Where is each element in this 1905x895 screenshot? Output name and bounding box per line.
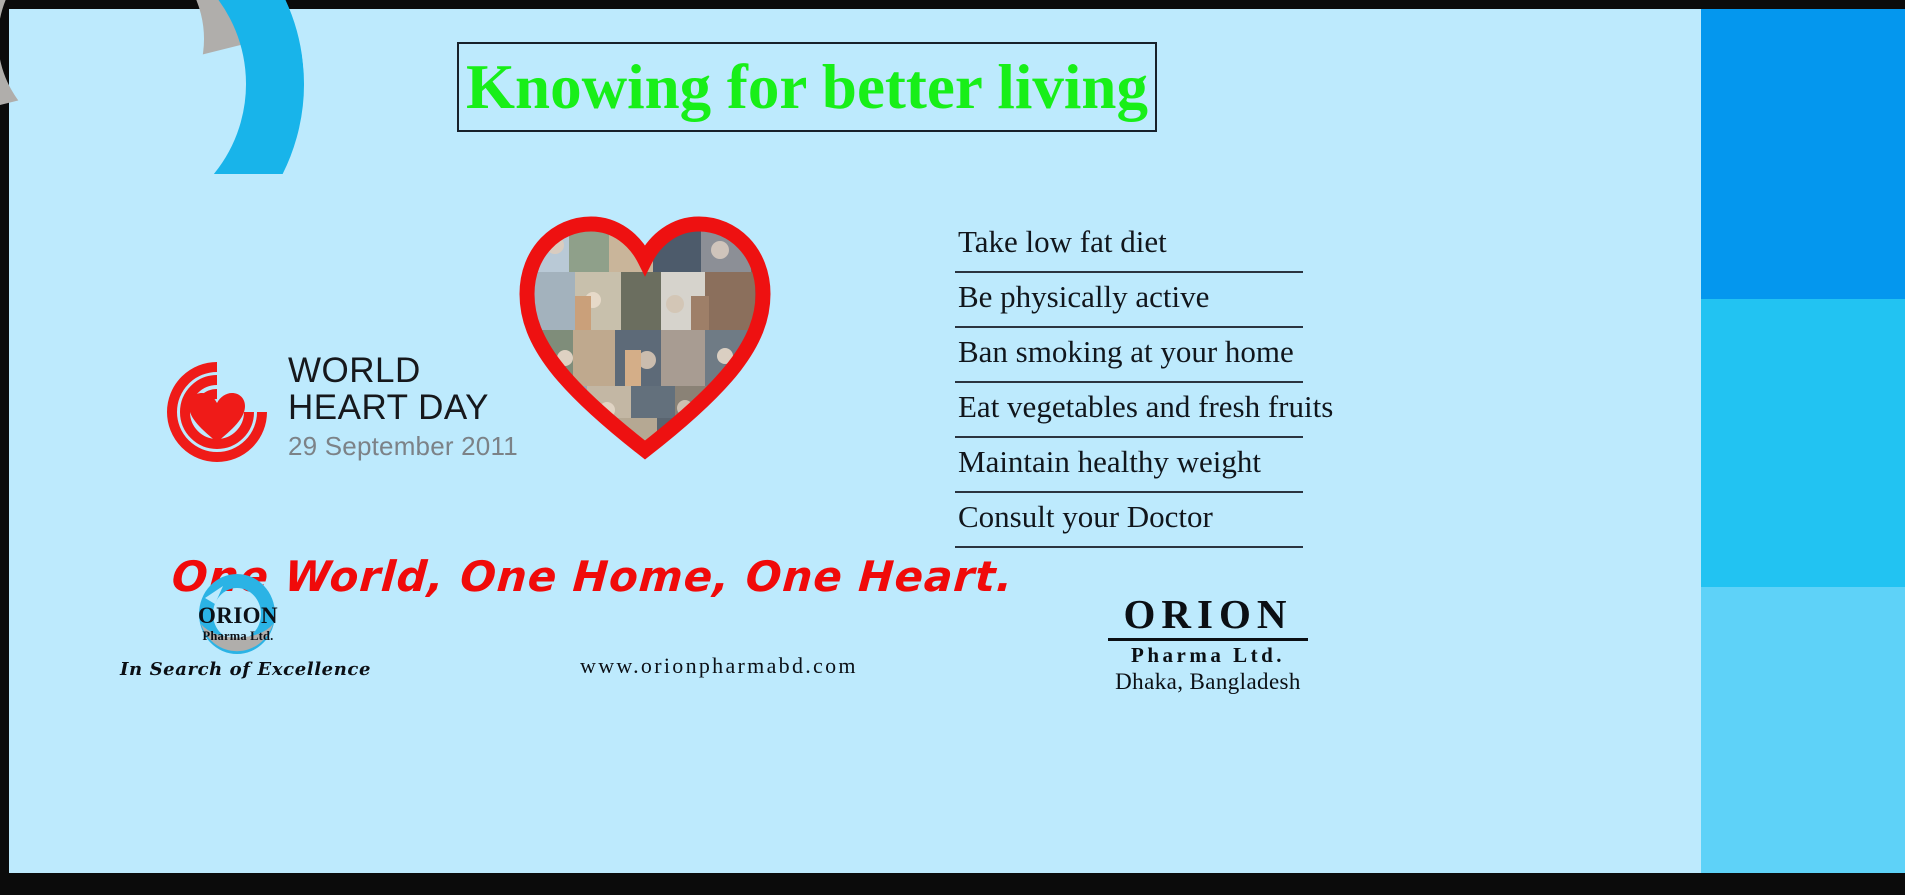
headline-box: Knowing for better living <box>457 42 1157 132</box>
right-rail-bar-2 <box>1701 299 1905 587</box>
list-item: Eat vegetables and fresh fruits <box>955 383 1303 438</box>
swoosh-blue-crescent-icon <box>0 0 324 174</box>
orion-pharma-wordmark: ORION Pharma Ltd. Dhaka, Bangladesh <box>1108 593 1308 696</box>
tip-label: Ban smoking at your home <box>958 330 1303 374</box>
excellence-tagline: In Search of Excellence <box>120 659 360 680</box>
orion-wordmark-rule <box>1108 638 1308 641</box>
frame-edge-top <box>0 0 1905 9</box>
list-item: Ban smoking at your home <box>955 328 1303 383</box>
website-url[interactable]: www.orionpharmabd.com <box>580 653 858 679</box>
world-heart-day-logo: WORLD HEART DAY 29 September 2011 <box>163 358 523 468</box>
orion-circle-name: ORION <box>186 604 290 627</box>
tip-label: Consult your Doctor <box>958 495 1303 539</box>
whd-date: 29 September 2011 <box>288 429 518 463</box>
tip-label: Take low fat diet <box>958 220 1303 264</box>
frame-edge-bottom <box>0 873 1905 895</box>
tip-label: Eat vegetables and fresh fruits <box>958 385 1303 429</box>
list-item: Consult your Doctor <box>955 493 1303 548</box>
list-item: Take low fat diet <box>955 218 1303 273</box>
orion-swoosh-decoration <box>0 0 354 174</box>
right-rail-gutter <box>1693 9 1701 873</box>
world-heart-day-text: WORLD HEART DAY 29 September 2011 <box>288 352 518 463</box>
world-heart-day-spiral-heart-logo-icon <box>163 358 271 466</box>
orion-circle-logo-text: ORION Pharma Ltd. <box>186 604 290 643</box>
list-item: Be physically active <box>955 273 1303 328</box>
campaign-tagline: One World, One Home, One Heart. <box>170 552 1015 601</box>
page-title: Knowing for better living <box>466 56 1148 119</box>
swoosh-gray-crescent-icon <box>0 0 301 174</box>
orion-wordmark-sub: Pharma Ltd. <box>1108 643 1308 667</box>
photo-collage-heart <box>515 200 775 462</box>
orion-wordmark-city: Dhaka, Bangladesh <box>1108 668 1308 696</box>
right-rail-bar-3 <box>1701 587 1905 873</box>
list-item: Maintain healthy weight <box>955 438 1303 493</box>
orion-circle-sub: Pharma Ltd. <box>186 630 290 643</box>
tip-label: Be physically active <box>958 275 1303 319</box>
orion-wordmark-name: ORION <box>1108 593 1308 635</box>
right-rail-bar-1 <box>1701 9 1905 299</box>
heart-health-tips-list: Take low fat diet Be physically active B… <box>955 218 1303 548</box>
whd-line-2: HEART DAY <box>288 389 518 426</box>
world-heart-day-banner: Knowing for better living WORLD HEART DA… <box>0 0 1905 895</box>
tip-label: Maintain healthy weight <box>958 440 1303 484</box>
frame-edge-left <box>0 0 9 895</box>
whd-line-1: WORLD <box>288 352 518 389</box>
